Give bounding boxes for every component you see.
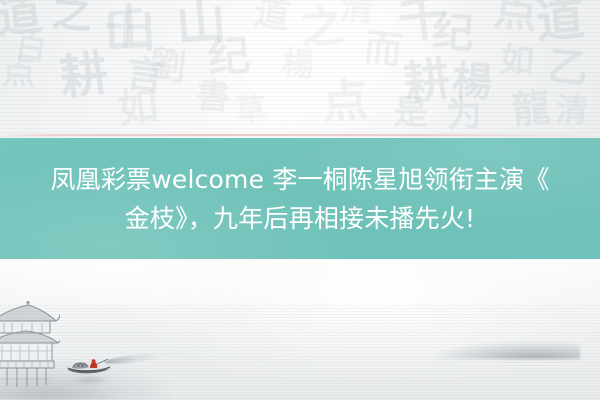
- calligraphy-glyph: 而: [362, 28, 404, 70]
- calligraphy-glyph: 劉: [148, 46, 188, 86]
- calligraphy-glyph: 龍: [510, 88, 552, 130]
- calligraphy-glyph: 为: [445, 95, 483, 133]
- calligraphy-glyph: 之: [51, 0, 94, 35]
- calligraphy-glyph: 纪: [207, 35, 252, 80]
- headline-text: 凤凰彩票welcome 李一桐陈星旭领衔主演《 金枝》，九年后再相接未播先火!: [20, 160, 580, 238]
- accent-rule: [0, 134, 600, 136]
- calligraphy-glyph: 如: [499, 43, 535, 79]
- calligraphy-glyph: 点: [491, 0, 540, 37]
- water-texture: [0, 305, 600, 400]
- calligraphy-glyph: 草: [235, 95, 267, 127]
- calligraphy-glyph: 清: [339, 0, 376, 27]
- calligraphy-glyph: 千: [103, 7, 149, 53]
- calligraphy-glyph: 乙: [546, 46, 590, 90]
- calligraphy-glyph: 書: [195, 79, 232, 116]
- headline-line-1: 凤凰彩票welcome 李一桐陈星旭领衔主演《: [20, 160, 580, 199]
- ink-wash-landscape: [0, 259, 600, 400]
- headline-band: 凤凰彩票welcome 李一桐陈星旭领衔主演《 金枝》，九年后再相接未播先火!: [0, 138, 600, 259]
- calligraphy-glyph: 点: [1, 55, 37, 91]
- calligraphy-glyph: 是: [393, 95, 428, 130]
- calligraphy-glyph: 纪: [431, 11, 475, 55]
- calligraphy-glyph: 道: [252, 0, 293, 34]
- calligraphy-glyph: 清: [555, 93, 589, 127]
- distant-shore: [430, 341, 580, 359]
- calligraphy-glyph: 点: [321, 77, 369, 125]
- calligraphy-glyph: 楊: [281, 47, 315, 81]
- waterside-pavilion-icon: [0, 301, 60, 391]
- calligraphy-glyph: 如: [116, 86, 161, 131]
- calligraphy-glyph: 耕: [57, 49, 111, 103]
- calligraphy-texture-background: 道 之 山 白 耕 点 言 千 山 劉 纪 書 如 道 之 楊 点 而 千 纪 …: [0, 0, 600, 138]
- article-banner-image: 道 之 山 白 耕 点 言 千 山 劉 纪 書 如 道 之 楊 点 而 千 纪 …: [0, 0, 600, 400]
- fishing-boat-icon: [66, 354, 112, 378]
- boat-wake: [104, 351, 166, 366]
- headline-line-2: 金枝》，九年后再相接未播先火!: [20, 199, 580, 238]
- calligraphy-glyph: 道: [534, 0, 586, 46]
- mist-overlay: [0, 259, 600, 400]
